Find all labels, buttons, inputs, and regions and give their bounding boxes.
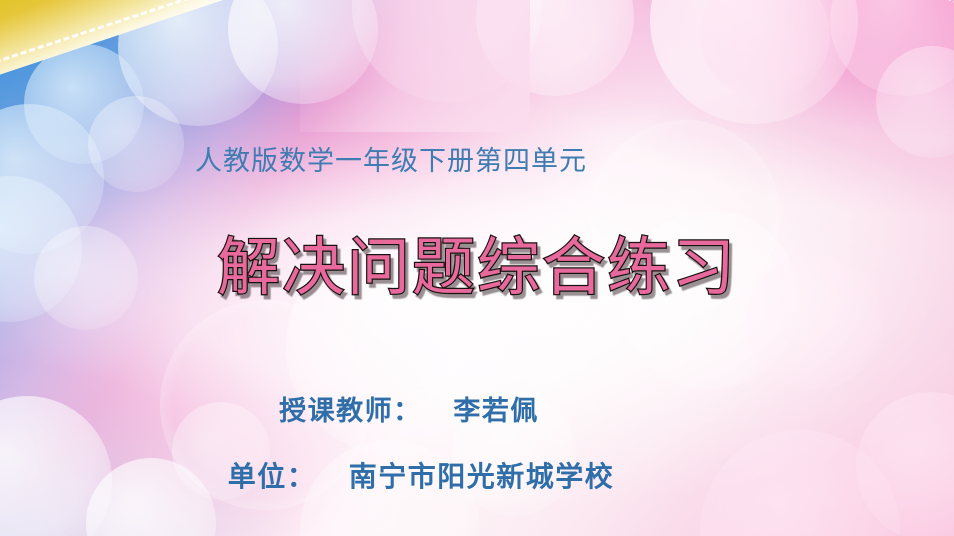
presenter-label: 授课教师： — [279, 396, 422, 427]
organization-line: 单位： 南宁市阳光新城学校 — [0, 455, 954, 495]
slide-subtitle-text: 人教版数学一年级下册第四单元 — [195, 139, 587, 178]
organization-name: 南宁市阳光新城学校 — [349, 460, 615, 493]
presenter-name: 李若佩 — [453, 396, 539, 427]
presenter-line: 授课教师： 李若佩 — [0, 389, 954, 428]
organization-label: 单位： — [228, 460, 317, 493]
slide-subtitle: 人教版数学一年级下册第四单元 — [0, 139, 954, 178]
slide-text-content: 人教版数学一年级下册第四单元 解决问题综合练习 授课教师： 李若佩 单位： 南宁… — [0, 0, 954, 536]
presentation-slide: 人教版数学一年级下册第四单元 解决问题综合练习 授课教师： 李若佩 单位： 南宁… — [0, 0, 954, 536]
slide-main-title: 解决问题综合练习 — [0, 236, 954, 299]
